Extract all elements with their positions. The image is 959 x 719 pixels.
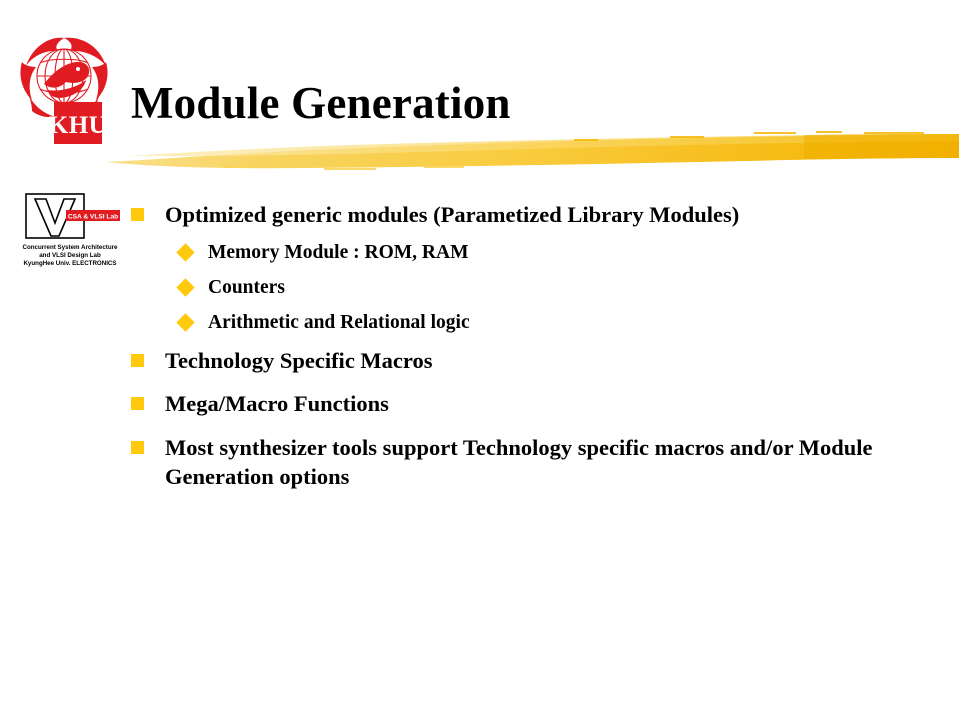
bullet-text: Counters <box>208 276 931 301</box>
bullet-text: Memory Module : ROM, RAM <box>208 241 931 266</box>
page-title: Module Generation <box>131 78 511 128</box>
bullet-text: Arithmetic and Relational logic <box>208 311 931 336</box>
brush-stroke-divider <box>104 128 959 174</box>
svg-text:Concurrent System Architecture: Concurrent System Architecture <box>22 244 118 251</box>
svg-text:KHU: KHU <box>49 112 107 139</box>
square-bullet-icon <box>131 433 165 454</box>
diamond-bullet-icon <box>179 276 208 294</box>
bullet-text: Optimized generic modules (Parametized L… <box>165 200 931 229</box>
slide-body: Optimized generic modules (Parametized L… <box>131 200 931 505</box>
bullet-text: Most synthesizer tools support Technolog… <box>165 433 931 492</box>
diamond-bullet-icon <box>179 241 208 259</box>
bullet-text: Technology Specific Macros <box>165 346 931 375</box>
svg-text:and VLSI Design Lab: and VLSI Design Lab <box>39 252 101 259</box>
bullet-text: Mega/Macro Functions <box>165 389 931 418</box>
bullet-item: Counters <box>179 276 931 301</box>
bullet-item: Most synthesizer tools support Technolog… <box>131 433 931 492</box>
bullet-item: Arithmetic and Relational logic <box>179 311 931 336</box>
square-bullet-icon <box>131 389 165 410</box>
svg-text:KyungHee Univ. ELECTRONICS: KyungHee Univ. ELECTRONICS <box>23 260 116 267</box>
presentation-slide: KHU CSA & VLSI Lab Concurrent System Arc… <box>0 0 959 719</box>
bullet-item: Memory Module : ROM, RAM <box>179 241 931 266</box>
square-bullet-icon <box>131 200 165 221</box>
csa-vlsi-lab-logo: CSA & VLSI Lab Concurrent System Archite… <box>18 192 122 270</box>
svg-text:CSA & VLSI Lab: CSA & VLSI Lab <box>68 214 118 221</box>
bullet-item: Optimized generic modules (Parametized L… <box>131 200 931 229</box>
khu-university-crest-logo: KHU <box>14 32 114 147</box>
bullet-item: Technology Specific Macros <box>131 346 931 375</box>
bullet-item: Mega/Macro Functions <box>131 389 931 418</box>
square-bullet-icon <box>131 346 165 367</box>
diamond-bullet-icon <box>179 311 208 329</box>
